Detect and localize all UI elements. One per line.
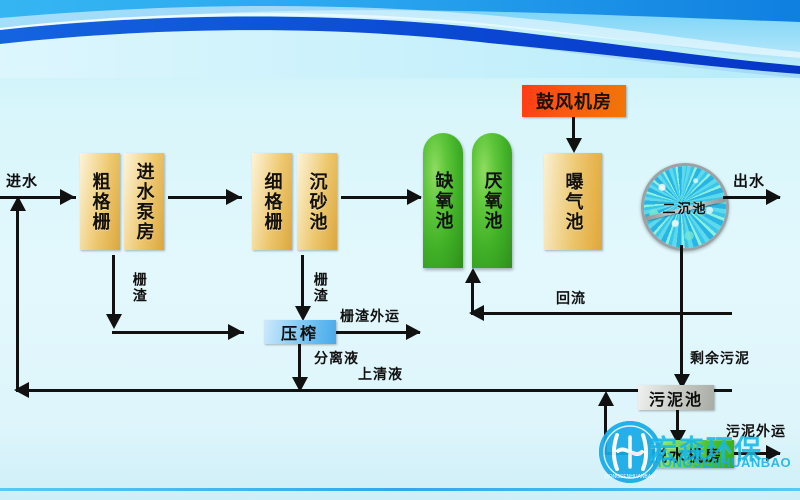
unit-sludge-tank[interactable]: 污泥池 (638, 385, 714, 410)
unit-fine-screen-label: 细格栅 (262, 172, 281, 232)
unit-grit-chamber[interactable]: 沉砂池 (297, 153, 337, 250)
line-coarse-screenings-down (112, 255, 115, 317)
unit-secondary-clarifier-label: 二沉池 (662, 198, 707, 217)
watermark-brand-en: HONGSENHUANBAO (652, 455, 791, 470)
line-clarifier-to-sludge-tank (680, 245, 683, 378)
line-screenings-to-press (112, 331, 244, 334)
label-excess-sludge: 剩余污泥 (690, 348, 750, 368)
unit-blower-room[interactable]: 鼓风机房 (522, 85, 626, 117)
arrowhead-grit-to-anoxic (407, 189, 422, 205)
decorative-wave-banner (0, 0, 800, 78)
unit-sludge-tank-label: 污泥池 (649, 386, 703, 410)
influent-arrowhead (60, 189, 75, 205)
arrowhead-coarse-screenings (106, 314, 122, 329)
unit-anoxic-tank-label: 缺氧池 (433, 171, 452, 231)
arrowhead-return-riser-left (10, 196, 26, 211)
wave-banner-svg (0, 0, 800, 78)
label-return-sludge: 回流 (556, 288, 586, 308)
unit-secondary-clarifier[interactable]: 二沉池 (641, 163, 729, 251)
unit-influent-pump-house[interactable]: 进水泵房 (124, 153, 164, 250)
arrowhead-screenings-to-press (228, 324, 243, 340)
footer-divider (0, 488, 800, 491)
effluent-arrowhead (766, 189, 781, 205)
arrowhead-dewatering-filtrate-up (598, 391, 614, 406)
unit-coarse-screen-label: 粗格栅 (90, 172, 109, 232)
label-screenings-out: 栅渣外运 (340, 306, 400, 326)
arrowhead-return-sludge-up (465, 268, 481, 283)
unit-aeration-tank[interactable]: 曝气池 (544, 153, 602, 250)
label-screenings-coarse: 栅渣 (132, 272, 147, 304)
unit-influent-pump-house-label: 进水泵房 (134, 162, 153, 242)
unit-aeration-tank-label: 曝气池 (563, 172, 582, 232)
process-flow-diagram: 进水 粗格栅 进水泵房 细格栅 沉砂池 缺氧池 厌氧池 鼓风机房 曝气池 二沉池 (0, 0, 800, 500)
arrowhead-screenings-out (406, 324, 421, 340)
unit-blower-room-label: 鼓风机房 (536, 88, 612, 114)
label-screenings-fine: 栅渣 (313, 272, 328, 304)
line-return-sludge (471, 312, 732, 315)
arrowhead-pumphouse-to-fine-screen (226, 189, 241, 205)
line-supernatant-return (16, 389, 732, 392)
label-supernatant: 上清液 (358, 364, 403, 384)
arrowhead-blower-to-aeration (566, 138, 582, 153)
label-separated-liquid: 分离液 (314, 348, 359, 368)
unit-anoxic-tank[interactable]: 缺氧池 (423, 133, 463, 268)
unit-anaerobic-tank[interactable]: 厌氧池 (472, 133, 512, 268)
label-effluent: 出水 (733, 170, 765, 191)
line-fine-screenings-down (301, 255, 304, 310)
unit-press-label: 压榨 (281, 320, 319, 344)
line-return-sludge-riser (471, 281, 474, 313)
unit-coarse-screen[interactable]: 粗格栅 (80, 153, 120, 250)
unit-anaerobic-tank-label: 厌氧池 (482, 171, 501, 231)
unit-fine-screen[interactable]: 细格栅 (252, 153, 292, 250)
unit-grit-chamber-label: 沉砂池 (307, 172, 326, 232)
unit-press[interactable]: 压榨 (264, 320, 336, 344)
arrowhead-fine-screenings (295, 306, 311, 321)
label-influent: 进水 (6, 170, 38, 191)
watermark-logo-ring-text: HONGSENHUANBAO (605, 474, 655, 480)
line-return-riser-left (16, 210, 19, 391)
